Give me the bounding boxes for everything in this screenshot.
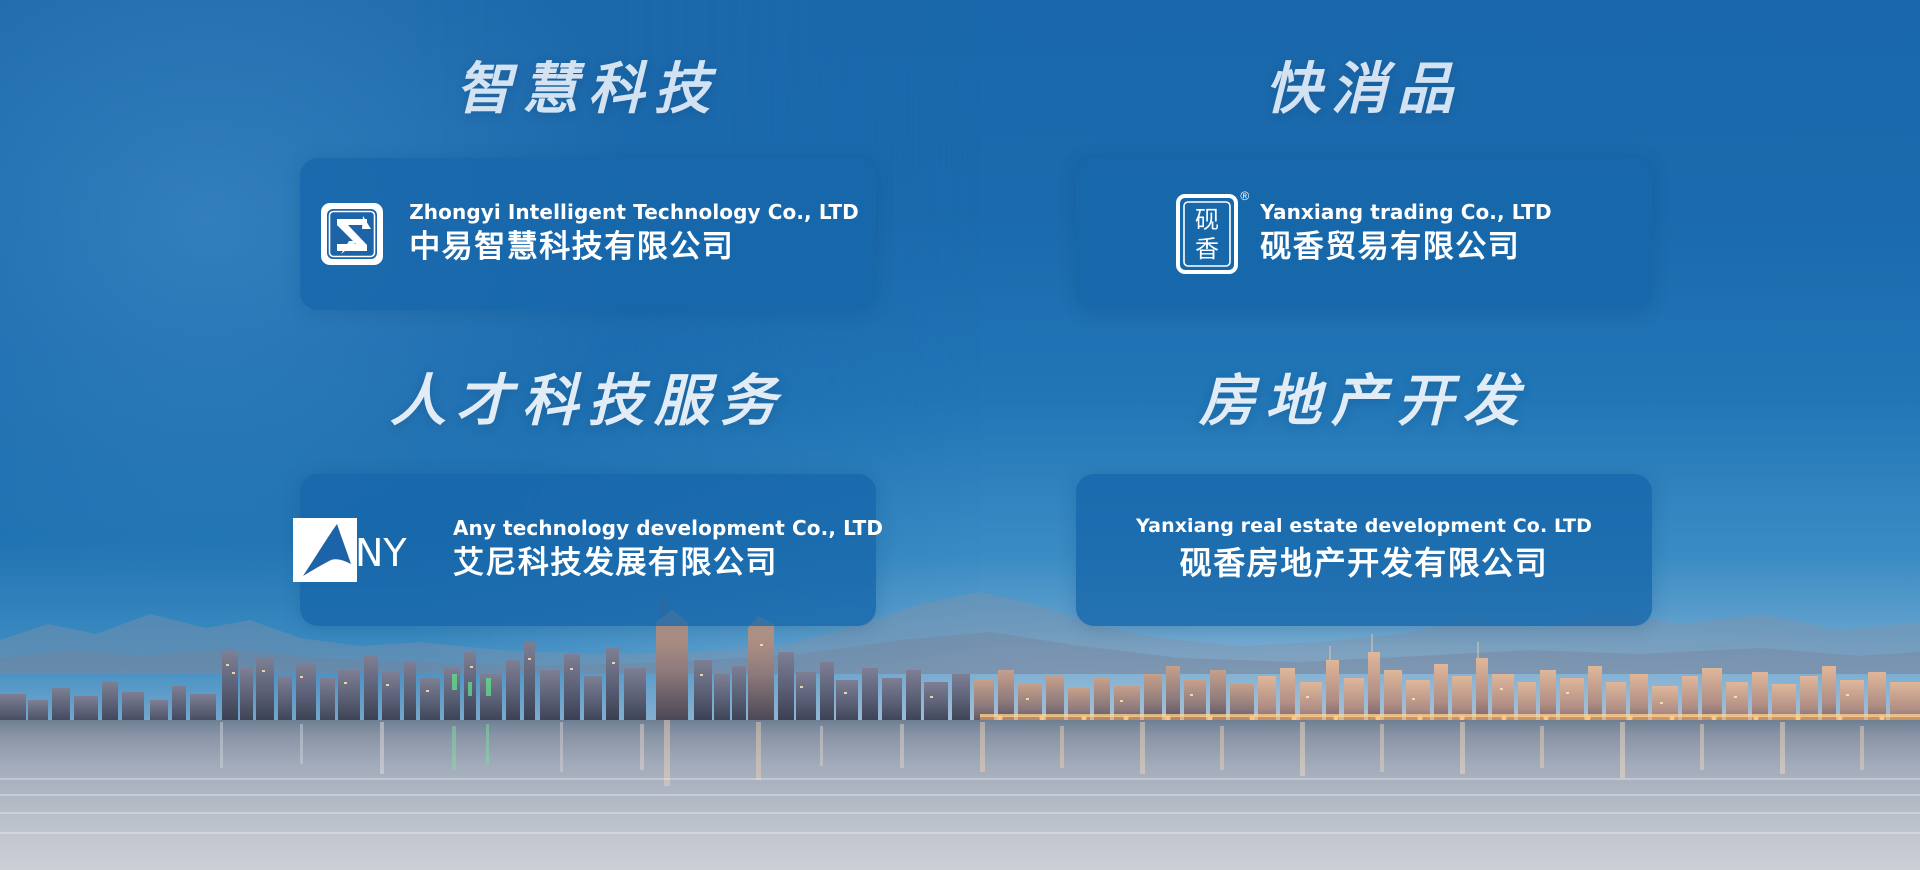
company-card-yanxiang-real-estate[interactable]: Yanxiang real estate development Co. LTD…: [1076, 474, 1652, 626]
any-name-cn: 艾尼科技发展有限公司: [453, 543, 883, 583]
yanxiang-trading-name-cn: 砚香贸易有限公司: [1260, 227, 1552, 267]
company-card-yanxiang-trading[interactable]: 砚 香 ® Yanxiang trading Co., LTD 砚香贸易有限公司: [1076, 158, 1652, 310]
company-card-zhongyi[interactable]: Zhongyi Intelligent Technology Co., LTD …: [300, 158, 876, 310]
any-mountain-logo: NY: [293, 518, 431, 582]
yanxiang-logo-wrap: 砚 香 ®: [1176, 194, 1238, 274]
zhongyi-logo-wrap: [317, 199, 387, 269]
segment-cell-fmcg: 快消品 砚 香 ® Yanxiang trading Co., LTD: [1076, 62, 1652, 336]
segment-heading-talent-tech-services: 人才科技服务: [390, 374, 786, 430]
yanxiang-trading-company-names: Yanxiang trading Co., LTD 砚香贸易有限公司: [1260, 200, 1552, 267]
segment-heading-smart-technology: 智慧科技: [456, 62, 720, 118]
zhongyi-name-en: Zhongyi Intelligent Technology Co., LTD: [409, 200, 859, 225]
zhongyi-name-cn: 中易智慧科技有限公司: [409, 227, 859, 267]
segment-heading-fmcg: 快消品: [1265, 62, 1463, 118]
segment-cell-real-estate: 房地产开发 Yanxiang real estate development C…: [1076, 360, 1652, 634]
segment-cell-talent-tech-services: 人才科技服务 NY Any technology development Co.…: [300, 360, 876, 634]
yanxiang-real-estate-name-cn: 砚香房地产开发有限公司: [1180, 543, 1549, 585]
seal-char-xiang: 香: [1195, 235, 1219, 263]
zhongyi-company-names: Zhongyi Intelligent Technology Co., LTD …: [409, 200, 859, 267]
company-card-any-technology[interactable]: NY Any technology development Co., LTD 艾…: [300, 474, 876, 626]
any-company-names: Any technology development Co., LTD 艾尼科技…: [453, 516, 883, 583]
zhongyi-z-bolt-logo: [317, 199, 387, 269]
business-segments-banner: 智慧科技 Zhongyi Intelligent Technology Co.,…: [0, 0, 1920, 870]
any-name-en: Any technology development Co., LTD: [453, 516, 883, 541]
seal-char-yan: 砚: [1195, 206, 1219, 234]
yanxiang-real-estate-name-en: Yanxiang real estate development Co. LTD: [1136, 515, 1592, 539]
registered-trademark-icon: ®: [1240, 190, 1249, 202]
segment-cell-smart-technology: 智慧科技 Zhongyi Intelligent Technology Co.,…: [300, 62, 876, 336]
segment-heading-real-estate: 房地产开发: [1199, 374, 1529, 430]
yanxiang-real-estate-company-names: Yanxiang real estate development Co. LTD…: [1136, 515, 1592, 584]
any-logo-wrap: NY: [293, 518, 431, 582]
yanxiang-trading-name-en: Yanxiang trading Co., LTD: [1260, 200, 1552, 225]
yanxiang-seal-logo: 砚 香 ®: [1176, 194, 1238, 274]
any-logo-text: NY: [355, 531, 407, 575]
segments-grid: 智慧科技 Zhongyi Intelligent Technology Co.,…: [0, 0, 1920, 870]
